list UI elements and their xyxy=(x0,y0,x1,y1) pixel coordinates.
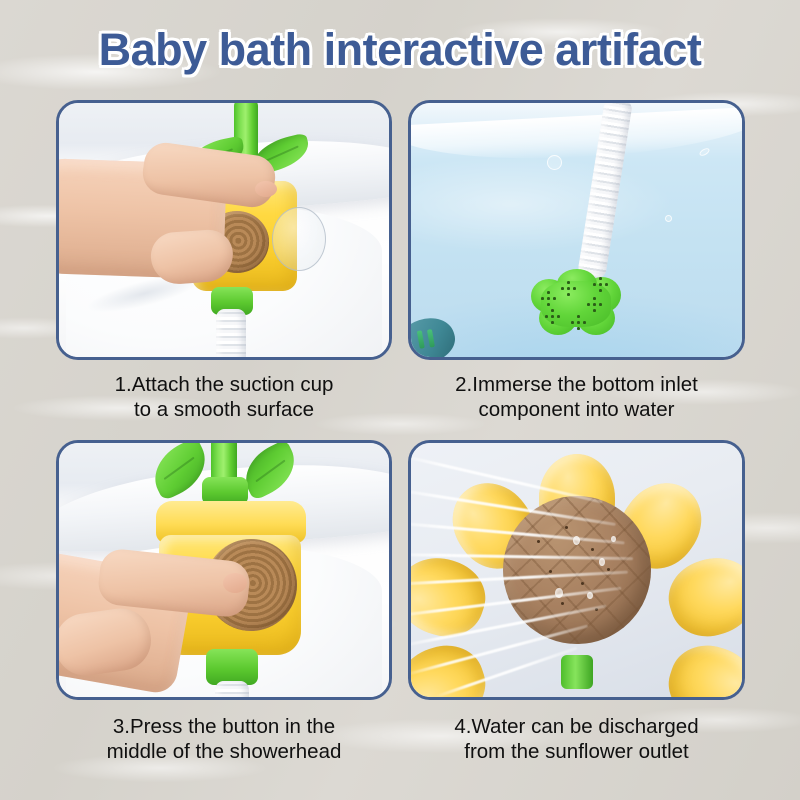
inlet-hole-cluster xyxy=(593,277,609,293)
step-panel-2[interactable] xyxy=(408,100,745,360)
scene-suction-cup xyxy=(59,103,389,357)
page-title: Baby bath interactive artifact xyxy=(0,24,800,76)
infographic-page: Baby bath interactive artifact xyxy=(0,0,800,800)
step-caption-1: 1.Attach the suction cup to a smooth sur… xyxy=(56,372,392,422)
sunflower-stem xyxy=(561,655,593,689)
leaf-vein xyxy=(255,459,285,482)
step-caption-2: 2.Immerse the bottom inlet component int… xyxy=(408,372,745,422)
caption-line-2: middle of the showerhead xyxy=(56,739,392,764)
finger-nail xyxy=(223,573,247,593)
caption-line-1: 3.Press the button in the xyxy=(56,714,392,739)
caption-line-2: to a smooth surface xyxy=(56,397,392,422)
water-bubble xyxy=(547,155,562,170)
step-caption-3: 3.Press the button in the middle of the … xyxy=(56,714,392,764)
inlet-hole-cluster xyxy=(545,309,561,325)
step-caption-4: 4.Water can be discharged from the sunfl… xyxy=(408,714,745,764)
scene-press-button xyxy=(59,443,389,697)
step-panel-3[interactable] xyxy=(56,440,392,700)
caption-line-1: 2.Immerse the bottom inlet xyxy=(408,372,745,397)
scene-sunflower-spray xyxy=(411,443,742,697)
water-bubble xyxy=(665,215,672,222)
inlet-assembly xyxy=(531,269,619,335)
finger-nail xyxy=(255,181,277,197)
step-panel-4[interactable] xyxy=(408,440,745,700)
corrugated-hose xyxy=(215,681,249,700)
step-panel-1[interactable] xyxy=(56,100,392,360)
water-sheen xyxy=(411,159,742,273)
scene-water-inlet xyxy=(411,103,742,357)
corrugated-hose xyxy=(216,309,246,360)
caption-line-1: 4.Water can be discharged xyxy=(408,714,745,739)
inlet-hole-cluster xyxy=(541,291,557,307)
toy-lower-collar xyxy=(206,649,258,685)
inlet-hole-cluster xyxy=(561,281,577,297)
leaf-vein xyxy=(264,146,299,163)
sunflower-petal xyxy=(604,699,717,700)
caption-line-2: component into water xyxy=(408,397,745,422)
sunflower-petal xyxy=(436,699,549,700)
inlet-hole-cluster xyxy=(571,315,587,331)
leaf-vein xyxy=(164,457,195,480)
inlet-hole-cluster xyxy=(587,297,603,313)
suction-cup[interactable] xyxy=(272,207,326,271)
caption-line-2: from the sunflower outlet xyxy=(408,739,745,764)
caption-line-1: 1.Attach the suction cup xyxy=(56,372,392,397)
